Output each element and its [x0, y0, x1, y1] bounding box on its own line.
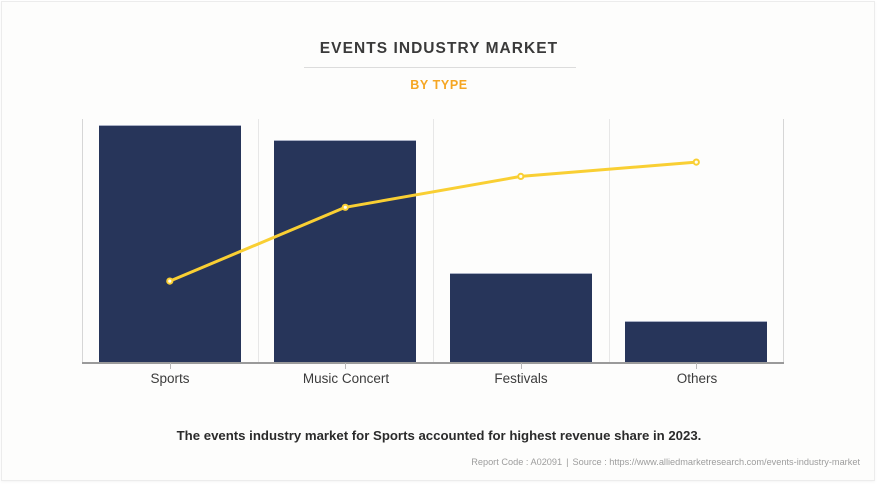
x-tick — [521, 363, 522, 369]
trend-marker-music-concert — [343, 205, 348, 210]
x-tick — [345, 363, 346, 369]
x-tick — [170, 363, 171, 369]
source-separator: | — [562, 457, 572, 467]
x-tick — [696, 363, 697, 369]
trend-marker-festivals — [518, 174, 523, 179]
chart-caption: The events industry market for Sports ac… — [2, 428, 876, 443]
page-title: EVENTS INDUSTRY MARKET — [2, 40, 876, 58]
trend-marker-sports — [167, 279, 172, 284]
chart-subtitle: BY TYPE — [2, 78, 876, 92]
trend-line-group — [82, 119, 784, 363]
title-divider — [304, 67, 576, 68]
trend-line — [170, 162, 697, 281]
x-label-sports: Sports — [82, 371, 258, 386]
x-label-festivals: Festivals — [433, 371, 609, 386]
x-label-others: Others — [609, 371, 785, 386]
trend-marker-others — [694, 160, 699, 165]
source-line: Report Code : A02091|Source : https://ww… — [471, 457, 860, 467]
report-code: Report Code : A02091 — [471, 457, 562, 467]
x-label-music-concert: Music Concert — [258, 371, 434, 386]
chart-card: EVENTS INDUSTRY MARKET BY TYPE SportsMus… — [1, 1, 875, 481]
source-url: Source : https://www.alliedmarketresearc… — [573, 457, 860, 467]
trend-marker-group — [167, 160, 699, 284]
plot-area — [82, 119, 784, 363]
